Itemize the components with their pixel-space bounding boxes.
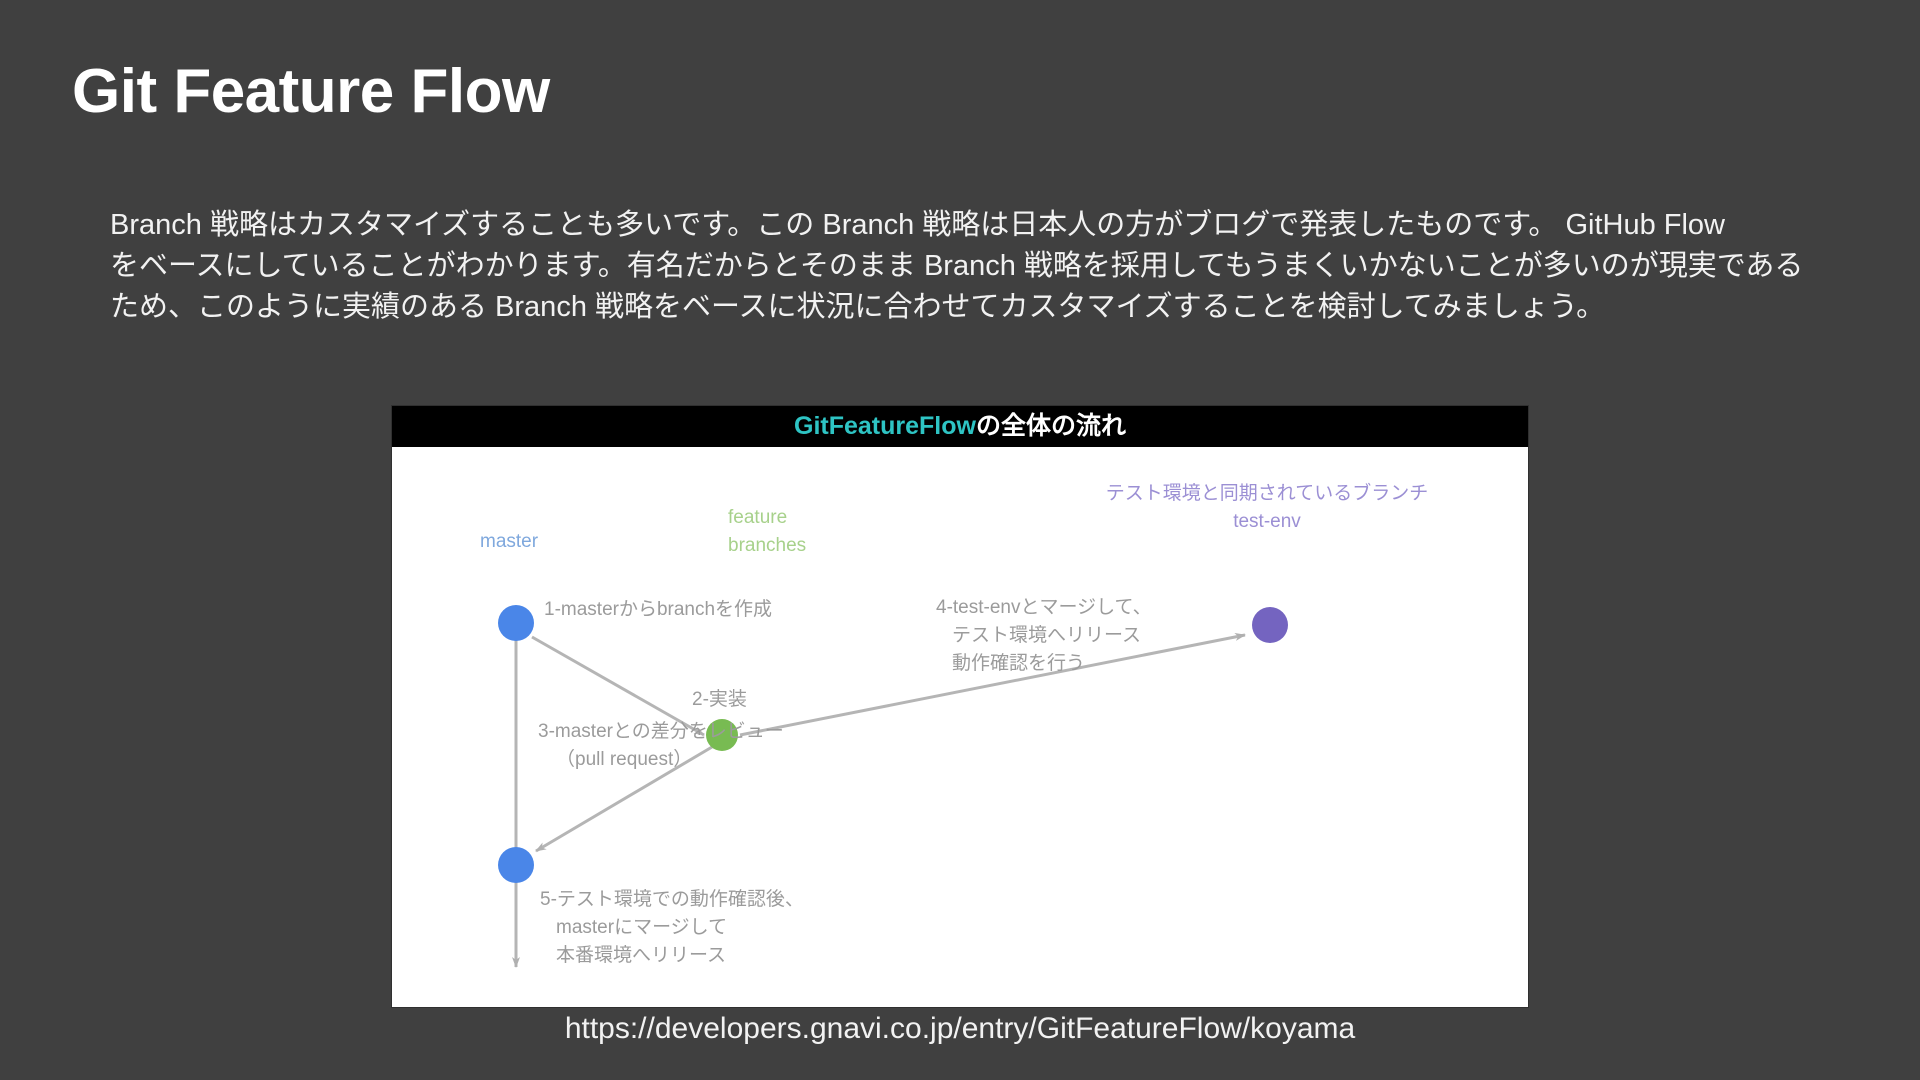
branch-label-testenv-line1: テスト環境と同期されているブランチ bbox=[1052, 481, 1482, 506]
diagram-image: GitFeatureFlowの全体の流れ mast bbox=[392, 406, 1528, 1007]
step-2-label: 2-実装 bbox=[692, 687, 747, 712]
node-master-bottom bbox=[498, 847, 534, 883]
step-5-label-line3: 本番環境へリリース bbox=[556, 943, 726, 968]
step-3-label-line1: 3-masterとの差分をレビュー bbox=[538, 719, 784, 744]
body-line-3: ため、このように実績のある Branch 戦略をベースに状況に合わせてカスタマイ… bbox=[110, 287, 1850, 328]
node-testenv bbox=[1252, 607, 1288, 643]
step-4-label-line2: テスト環境へリリース bbox=[952, 623, 1141, 648]
page-title: Git Feature Flow bbox=[72, 58, 550, 126]
node-master-top bbox=[498, 605, 534, 641]
branch-label-master: master bbox=[480, 529, 538, 554]
body-line-2: をベースにしていることがわかります。有名だからとそのまま Branch 戦略を採… bbox=[110, 246, 1850, 287]
diagram-canvas: master feature branches テスト環境と同期されているブラン… bbox=[392, 447, 1528, 1007]
diagram-header-rest: の全体の流れ bbox=[976, 412, 1126, 440]
step-5-label-line1: 5-テスト環境での動作確認後、 bbox=[540, 887, 804, 912]
branch-label-feature-line1: feature bbox=[728, 505, 787, 530]
diagram-header-bar: GitFeatureFlowの全体の流れ bbox=[392, 406, 1528, 447]
branch-label-feature-line2: branches bbox=[728, 533, 806, 558]
diagram-header-accent: GitFeatureFlow bbox=[794, 412, 976, 440]
branch-label-testenv-line2: test-env bbox=[1052, 509, 1482, 534]
step-3-label-line2: （pull request） bbox=[556, 747, 692, 772]
step-5-label-line2: masterにマージして bbox=[556, 915, 727, 940]
source-url-caption: https://developers.gnavi.co.jp/entry/Git… bbox=[0, 1012, 1920, 1046]
step-4-label-line1: 4-test-envとマージして、 bbox=[936, 595, 1152, 620]
diagram-header-title: GitFeatureFlowの全体の流れ bbox=[794, 414, 1126, 439]
edge-feature-to-testenv bbox=[740, 635, 1245, 735]
body-line-1: Branch 戦略はカスタマイズすることも多いです。この Branch 戦略は日… bbox=[110, 205, 1850, 246]
step-1-label: 1-masterからbranchを作成 bbox=[544, 597, 772, 622]
body-paragraph: Branch 戦略はカスタマイズすることも多いです。この Branch 戦略は日… bbox=[110, 205, 1850, 329]
step-4-label-line3: 動作確認を行う bbox=[952, 651, 1085, 676]
